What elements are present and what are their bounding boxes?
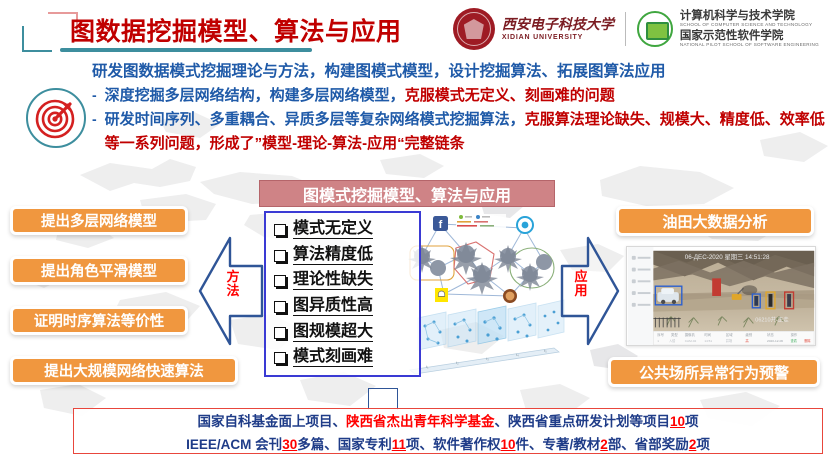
bullet-1-normal: 深度挖掘多层网络结构，构建多层网络模型， xyxy=(105,87,405,104)
application-item-public-anomaly-warning[interactable]: 公共场所异常行为预警 xyxy=(608,357,820,387)
achievements-line-1: 国家自科基金面上项目、陕西省杰出青年科学基金、陕西省重点研发计划等项目10项 xyxy=(197,410,698,430)
page-title: 图数据挖掘模型、算法与应用 xyxy=(70,12,402,48)
svg-text:2020-12-06: 2020-12-06 xyxy=(767,339,783,343)
svg-text:摄像机: 摄像机 xyxy=(685,332,696,337)
svg-text:井场: 井场 xyxy=(726,338,732,343)
svg-text:CAM-02: CAM-02 xyxy=(685,339,697,343)
bracket-corner-bottom-left xyxy=(22,26,52,52)
method-arrow: 方法 xyxy=(196,232,266,350)
bullet-2-normal: 研发时间序列、多重耦合、异质多层等复杂网络模式挖掘算法， xyxy=(105,111,525,128)
school-line2-cn: 国家示范性软件学院 xyxy=(680,30,819,42)
checklist-label: 算法精度低 xyxy=(293,247,373,265)
ach2-seg1: IEEE/ACM 会刊 xyxy=(186,437,282,452)
svg-text:级别: 级别 xyxy=(746,332,753,337)
checklist-row[interactable]: 模式刻画难 xyxy=(272,345,415,371)
achievements-band: 国家自科基金面上项目、陕西省杰出青年科学基金、陕西省重点研发计划等项目10项 I… xyxy=(73,408,823,454)
bullet-1-text: 深度挖掘多层网络结构，构建多层网络模型，克服模式无定义、刻画难的问题 xyxy=(105,84,615,108)
checklist-row[interactable]: 模式无定义 xyxy=(272,217,415,243)
svg-text:f: f xyxy=(439,219,443,231)
checklist-row[interactable]: 理论性缺失 xyxy=(272,268,415,294)
method-item-multilayer-network-model[interactable]: 提出多层网络模型 xyxy=(10,206,188,235)
school-line2-en: NATIONAL PILOT SCHOOL OF SOFTWARE ENGINE… xyxy=(680,43,819,48)
application-arrow-label: 应用 xyxy=(570,270,592,297)
checkbox-icon[interactable] xyxy=(274,275,286,287)
svg-text:t₅: t₅ xyxy=(544,348,547,353)
checkbox-icon[interactable] xyxy=(274,301,286,313)
ach2-num1: 30 xyxy=(282,437,297,452)
school-monitor-icon xyxy=(637,11,673,47)
checkbox-icon[interactable] xyxy=(274,327,286,339)
university-name-en: XIDIAN UNIVERSITY xyxy=(502,34,614,41)
target-bullseye-icon xyxy=(26,88,86,148)
title-underline-rule xyxy=(60,48,312,52)
svg-text:高: 高 xyxy=(746,338,749,343)
checkbox-icon[interactable] xyxy=(274,250,286,262)
bullet-1-emphasis: 克服模式无定义、刻画难的问题 xyxy=(405,87,615,104)
challenge-checklist: 模式无定义 算法精度低 理论性缺失 图异质性高 图规模超大 模式刻画难 xyxy=(264,211,421,377)
checklist-row[interactable]: 算法精度低 xyxy=(272,243,415,269)
school-line1-cn: 计算机科学与技术学院 xyxy=(680,10,819,22)
ach2-num2: 11 xyxy=(392,437,406,452)
ach2-num3: 10 xyxy=(501,437,516,452)
ach2-seg6: 项 xyxy=(696,437,710,452)
xidian-seal-icon xyxy=(453,8,495,50)
svg-text:入侵: 入侵 xyxy=(669,338,675,343)
ach2-seg3: 项、软件著作权 xyxy=(406,437,501,452)
ach2-seg2: 多篇、国家专利 xyxy=(297,437,392,452)
svg-text:1: 1 xyxy=(657,339,659,343)
checklist-label: 图规模超大 xyxy=(293,324,373,342)
logo-group: 西安电子科技大学 XIDIAN UNIVERSITY 计算机科学与技术学院 SC… xyxy=(453,6,819,52)
method-item-temporal-algorithm-equivalence[interactable]: 证明时序算法等价性 xyxy=(10,306,188,335)
svg-text:时间: 时间 xyxy=(704,332,711,337)
university-name-block: 西安电子科技大学 XIDIAN UNIVERSITY xyxy=(502,17,614,41)
svg-text:序号: 序号 xyxy=(657,332,664,337)
surveillance-video-thumbnail[interactable]: 06-ДЕС-2020 星期三 14:51:28 06210井-正走 序号类型摄… xyxy=(626,246,816,346)
checklist-label: 理论性缺失 xyxy=(293,272,373,290)
svg-text:14:51: 14:51 xyxy=(704,339,712,343)
svg-text:查看: 查看 xyxy=(791,338,797,343)
svg-text:类型: 类型 xyxy=(671,332,678,337)
multilayer-network-diagram: t₁t₂t₃ t₄t₅ xyxy=(410,300,564,374)
intro-bullet-1: - 深度挖掘多层网络结构，构建多层网络模型，克服模式无定义、刻画难的问题 xyxy=(92,84,827,108)
school-name-block: 计算机科学与技术学院 SCHOOL OF COMPUTER SCIENCE AN… xyxy=(680,10,819,48)
achievements-line-2: IEEE/ACM 会刊30多篇、国家专利11项、软件著作权10件、专著/教材2部… xyxy=(186,433,710,453)
svg-text:状态: 状态 xyxy=(767,332,774,337)
ach2-num4: 2 xyxy=(600,437,608,452)
school-line1-en: SCHOOL OF COMPUTER SCIENCE AND TECHNOLOG… xyxy=(680,23,819,28)
checkbox-icon[interactable] xyxy=(274,352,286,364)
svg-text:删除: 删除 xyxy=(804,338,811,343)
page-header: 图数据挖掘模型、算法与应用 西安电子科技大学 XIDIAN UNIVERSITY… xyxy=(0,0,831,58)
checklist-row[interactable]: 图规模超大 xyxy=(272,320,415,346)
checkbox-icon[interactable] xyxy=(274,224,286,236)
application-arrow: 应用 xyxy=(560,232,622,350)
ach1-seg4: 项 xyxy=(685,414,699,429)
application-item-oilfield-bigdata[interactable]: 油田大数据分析 xyxy=(616,206,814,236)
ach1-seg1: 国家自科基金面上项目、 xyxy=(197,414,346,429)
method-item-role-smoothing-model[interactable]: 提出角色平滑模型 xyxy=(10,256,188,285)
bullet-dash: - xyxy=(92,108,97,130)
checklist-row[interactable]: 图异质性高 xyxy=(272,294,415,320)
svg-text:t₄: t₄ xyxy=(516,352,519,357)
intro-text-block: 研发图数据模式挖掘理论与方法，构建图模式模型，设计挖掘算法、拓展图算法应用 - … xyxy=(92,60,827,156)
intro-bullet-2: - 研发时间序列、多重耦合、异质多层等复杂网络模式挖掘算法，克服算法理论缺失、规… xyxy=(92,108,827,156)
checklist-label: 图异质性高 xyxy=(293,298,373,316)
ach1-num1: 10 xyxy=(670,414,685,429)
checklist-label: 模式无定义 xyxy=(293,221,373,239)
method-item-large-scale-fast-algorithm[interactable]: 提出大规模网络快速算法 xyxy=(10,356,238,385)
slide-root: 图数据挖掘模型、算法与应用 西安电子科技大学 XIDIAN UNIVERSITY… xyxy=(0,0,831,460)
svg-text:操作: 操作 xyxy=(791,332,798,337)
center-panel-title: 图模式挖掘模型、算法与应用 xyxy=(259,180,555,207)
center-graphics: f xyxy=(404,212,570,384)
ach1-seg2-red: 陕西省杰出青年科学基金 xyxy=(346,414,495,429)
svg-text:区域: 区域 xyxy=(726,332,733,337)
connector-notch xyxy=(368,388,398,410)
university-name-cn: 西安电子科技大学 xyxy=(502,17,614,31)
svg-text:06210井-正走: 06210井-正走 xyxy=(755,315,789,323)
svg-text:t₂: t₂ xyxy=(456,360,459,365)
svg-text:t₃: t₃ xyxy=(486,356,489,361)
intro-headline: 研发图数据模式挖掘理论与方法，构建图模式模型，设计挖掘算法、拓展图算法应用 xyxy=(92,60,827,84)
social-network-graph: f xyxy=(408,214,554,303)
bullet-dash: - xyxy=(92,84,97,106)
ach1-seg3: 、陕西省重点研发计划等项目 xyxy=(494,414,670,429)
checklist-label: 模式刻画难 xyxy=(293,349,373,367)
bullet-2-text: 研发时间序列、多重耦合、异质多层等复杂网络模式挖掘算法，克服算法理论缺失、规模大… xyxy=(105,108,827,156)
ach2-seg4: 件、专著/教材 xyxy=(516,437,601,452)
method-arrow-label: 方法 xyxy=(222,270,244,297)
logo-divider xyxy=(625,12,626,46)
video-timestamp: 06-ДЕС-2020 星期三 14:51:28 xyxy=(685,253,770,261)
ach2-seg5: 部、省部奖励 xyxy=(608,437,689,452)
bullet-2-emphasis-a: 克服算法理论缺失、 xyxy=(525,111,660,128)
